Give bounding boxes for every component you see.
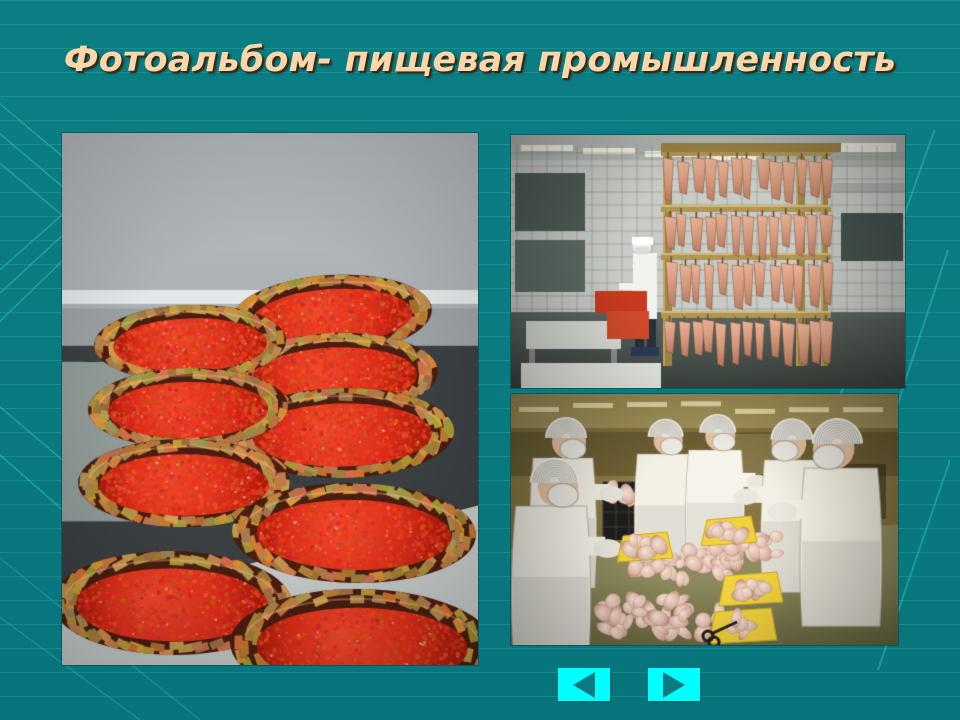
triangle-right-icon (663, 672, 685, 698)
page-title: Фотоальбом- пищевая промышленность (0, 40, 960, 80)
photo-fish-smokehouse[interactable] (511, 135, 905, 388)
photo-smokehouse-canvas (511, 135, 905, 388)
photo-caviar-baskets[interactable] (62, 133, 478, 665)
photo-poultry-packing[interactable] (511, 394, 898, 645)
triangle-left-icon (573, 672, 595, 698)
slide-canvas: Фотоальбом- пищевая промышленность (0, 0, 960, 720)
next-slide-button[interactable] (648, 668, 700, 701)
photo-caviar-canvas (62, 133, 478, 665)
previous-slide-button[interactable] (558, 668, 610, 701)
photo-packing-canvas (511, 394, 898, 645)
